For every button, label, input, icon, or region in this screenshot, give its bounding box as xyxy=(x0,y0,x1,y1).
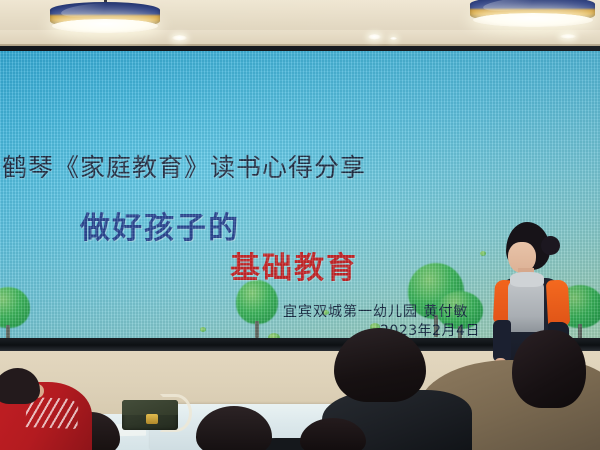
tree-trunk xyxy=(255,321,258,338)
pendant-diffuser-right xyxy=(473,13,593,27)
slide-top-line: 东鹤琴《家庭教育》读书心得分享 xyxy=(0,148,446,184)
presenter-jacket-panel xyxy=(508,280,544,332)
presenter-collar xyxy=(510,272,544,287)
presenter-sleeve-right xyxy=(546,279,570,326)
downlight-1 xyxy=(172,35,187,41)
slide-organization: 宜宾双城第一幼儿园 黄付敏 xyxy=(283,301,468,321)
pendant-diffuser-left xyxy=(52,19,158,33)
presentation-photo: 东鹤琴《家庭教育》读书心得分享 做好孩子的 基础教育 宜宾双城第一幼儿园 黄付敏… xyxy=(0,0,600,450)
pendant-gloss-right xyxy=(482,0,552,13)
handbag xyxy=(122,396,178,432)
leaf-blob-4 xyxy=(200,327,206,332)
tree-trunk xyxy=(6,325,10,339)
handbag-clasp xyxy=(146,414,158,424)
pendant-gloss-left xyxy=(61,2,122,19)
tree-trunk xyxy=(578,324,582,339)
slide-main-title-line2: 基础教育 xyxy=(230,243,358,287)
slide-main-title-line1: 做好孩子的 xyxy=(80,203,240,247)
presenter-arm-left xyxy=(493,320,511,362)
presenter-hair-bun xyxy=(541,236,560,255)
handbag-flap xyxy=(122,400,178,415)
downlight-2 xyxy=(368,34,381,40)
tree-crown xyxy=(0,287,30,328)
audience-red-jacket-stripes xyxy=(25,397,78,429)
audience-head-brown-coat xyxy=(512,330,586,408)
tree-decoration-1 xyxy=(236,280,278,338)
downlight-4 xyxy=(560,34,576,39)
pendant-lamp-right xyxy=(470,0,595,23)
pendant-lamp-left xyxy=(50,2,160,29)
leaf-blob-5 xyxy=(480,251,486,256)
tree-decoration-3 xyxy=(0,287,30,339)
downlight-3 xyxy=(390,37,397,40)
